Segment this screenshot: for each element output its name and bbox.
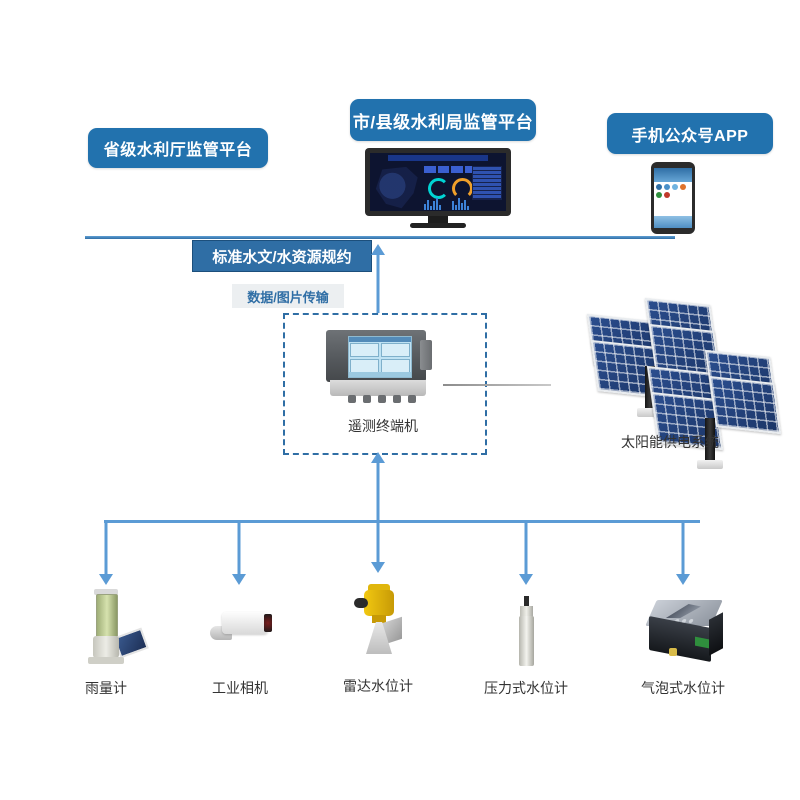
donut-chart-2 [452,178,473,199]
solar-power-illustration [590,300,750,450]
sensor-pressure-level[interactable]: 压力式水位计 [466,586,586,698]
transmission-label: 数据/图片传输 [247,287,329,306]
arrow-to-pressure-level [519,523,533,585]
platform-label-city: 市/县级水利局监管平台 [353,108,533,133]
sensor-label-industrial-camera: 工业相机 [180,678,300,698]
rtu-enclosure [326,330,426,382]
rtu-display-screen [348,336,412,378]
bubbler-illustration [623,586,743,678]
monitor-foot [410,223,466,228]
rtu-device-illustration [326,330,438,402]
pressure-probe-illustration [466,586,586,678]
smartphone-illustration [651,162,695,234]
sensor-radar-level[interactable]: 雷达水位计 [318,574,438,696]
rtu-base-panel [330,380,426,396]
architecture-diagram: 省级水利厅监管平台 市/县级水利局监管平台 手机公众号APP [0,0,800,800]
platform-card-province[interactable]: 省级水利厅监管平台 [88,128,268,168]
bar-chart-2 [452,198,469,210]
china-map-widget [374,166,420,210]
dashboard-body [372,164,504,209]
solar-label-text: 太阳能供电系统 [621,434,719,450]
backbone-connector-line [85,236,675,239]
rtu-caption: 遥测终端机 [283,416,483,436]
arrow-bus-to-rtu [371,452,385,522]
sensor-label-radar-level: 雷达水位计 [318,676,438,696]
rtu-cable-gland [363,395,371,403]
app-icon-grid [654,182,692,200]
platform-label-app: 手机公众号APP [632,122,749,146]
sensor-label-pressure-level: 压力式水位计 [466,678,586,698]
rtu-cable-gland [378,395,386,403]
bar-chart-1 [424,198,441,210]
arrow-to-radar-level [371,523,385,573]
rtu-cable-gland [393,395,401,403]
rtu-antenna-rod [443,384,551,386]
sensor-rain-gauge[interactable]: 雨量计 [46,586,166,698]
monitor-illustration [365,148,511,230]
camera-illustration [180,586,300,678]
radar-level-illustration [318,574,438,666]
platform-card-city[interactable]: 市/县级水利局监管平台 [350,99,536,141]
app-footer-banner [654,216,692,228]
sensor-industrial-camera[interactable]: 工业相机 [180,586,300,698]
donut-chart-1 [428,178,449,199]
arrow-to-bubbler-level [676,523,690,585]
arrow-rtu-to-backbone [371,244,385,318]
rtu-cable-gland [408,395,416,403]
protocol-label: 标准水文/水资源规约 [212,246,351,267]
solar-mount-base [697,460,723,469]
sensor-label-rain-gauge: 雨量计 [46,678,166,698]
app-banner [654,168,692,182]
platform-card-app[interactable]: 手机公众号APP [607,113,773,154]
sensor-bubbler-level[interactable]: 气泡式水位计 [623,586,743,698]
platform-label-province: 省级水利厅监管平台 [104,136,253,160]
phone-body [651,162,695,234]
data-table-widget [472,166,502,200]
solar-caption: 太阳能供电系统 [590,432,750,452]
transmission-label-box: 数据/图片传输 [232,284,344,308]
sensor-bus-line [104,520,700,523]
rtu-label-text: 遥测终端机 [348,418,418,434]
kpi-widgets [424,166,476,173]
solar-panel [709,376,781,434]
dashboard-title-bar [388,155,488,161]
monitor-screen [370,153,506,211]
arrow-to-rain-gauge [99,523,113,585]
phone-screen [654,168,692,228]
protocol-label-box: 标准水文/水资源规约 [192,240,372,272]
sensor-label-bubbler-level: 气泡式水位计 [623,678,743,698]
rain-gauge-illustration [46,586,166,678]
monitor-bezel [365,148,511,216]
rtu-side-connector [420,340,432,370]
rtu-cable-gland [348,395,356,403]
arrow-to-industrial-camera [232,523,246,585]
